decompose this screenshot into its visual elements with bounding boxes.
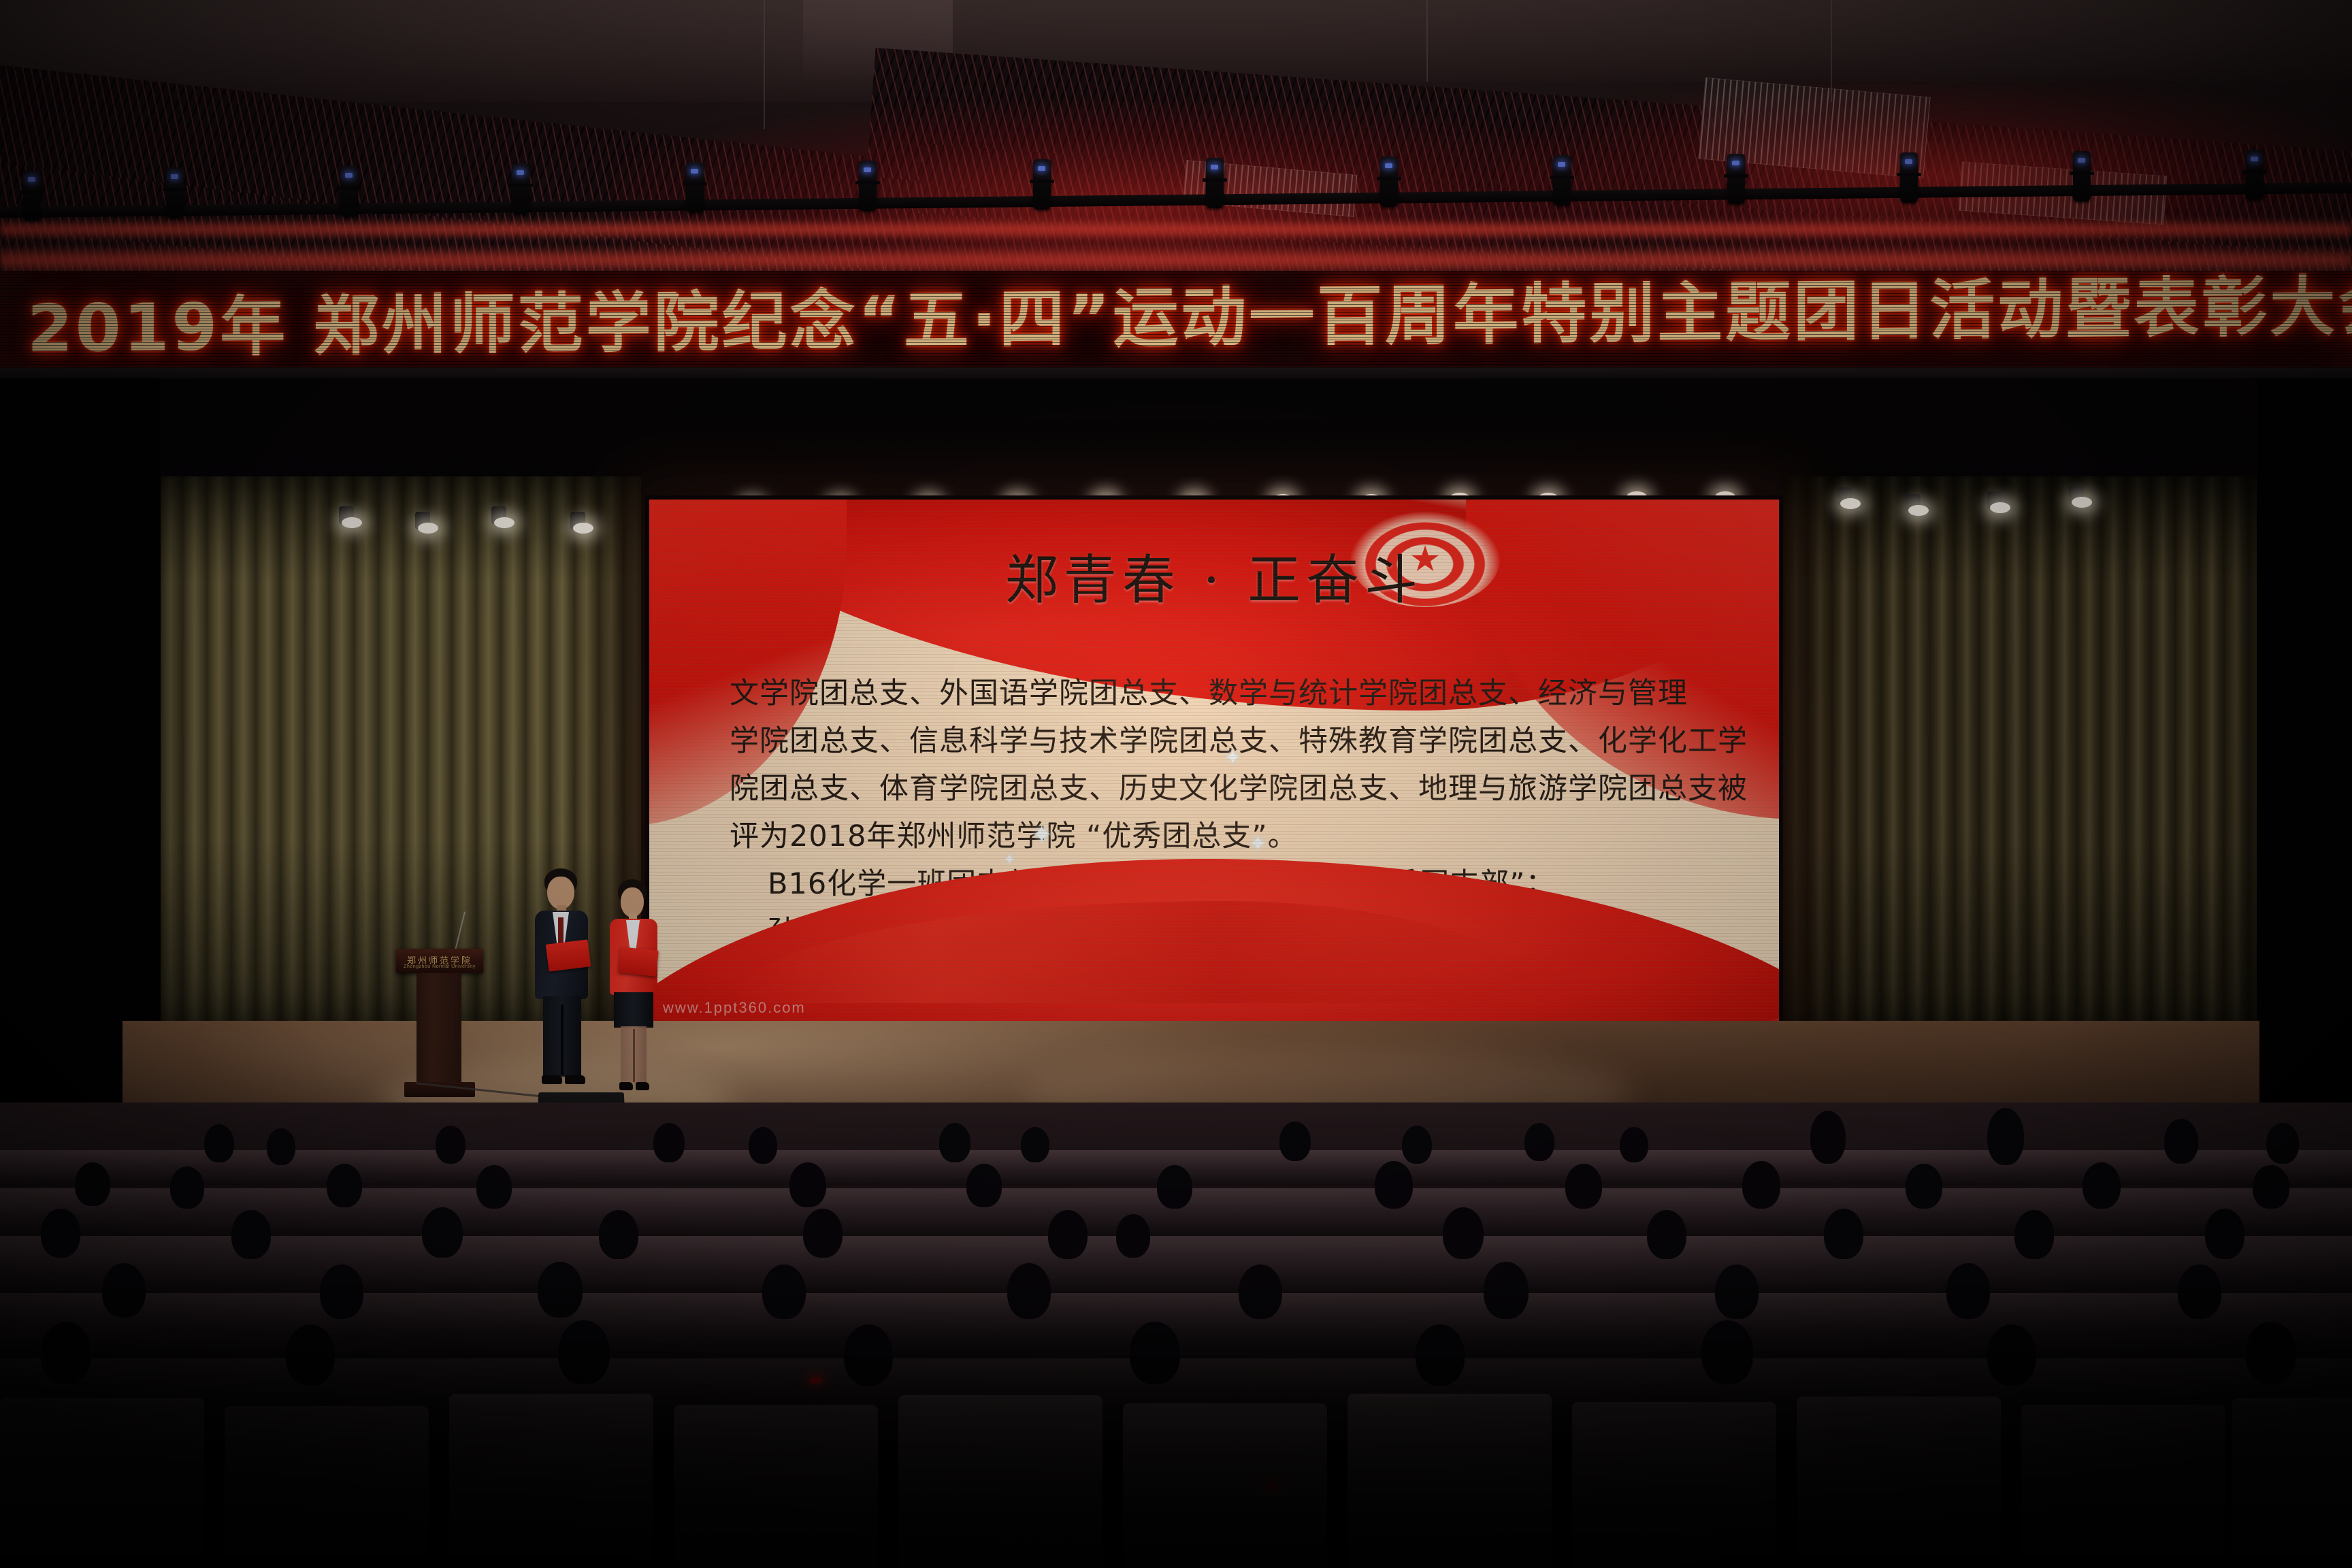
moving-head-light <box>1727 154 1745 204</box>
audience-head <box>1279 1122 1311 1161</box>
podium-column <box>416 973 461 1082</box>
audience-head <box>231 1210 271 1259</box>
audience-area <box>0 1102 2352 1568</box>
front-light <box>1908 505 1929 516</box>
seat-back <box>1123 1403 1327 1568</box>
front-light <box>342 517 362 528</box>
auditorium-scene: 2019年 郑州师范学院纪念“五·四”运动一百周年特别主题团日活动暨表彰大会 <box>0 0 2352 1568</box>
seat-back <box>225 1406 429 1568</box>
host-male <box>520 868 602 1093</box>
moving-head-light <box>859 161 877 211</box>
audience-head <box>41 1322 91 1384</box>
seat-back <box>2021 1405 2225 1568</box>
host-female <box>596 879 668 1096</box>
front-light <box>418 523 438 534</box>
audience-head <box>267 1128 295 1165</box>
moving-head-light <box>23 170 41 220</box>
slide-paragraph: 院团总支、体育学院团总支、历史文化学院团总支、地理与旅游学院团总支被 <box>730 765 1703 813</box>
audience-head <box>1007 1263 1051 1319</box>
slide-paragraph: 评为2018年郑州师范学院 “优秀团总支”。 <box>730 813 1703 860</box>
front-light <box>2072 497 2092 508</box>
slide-paragraph: 文学院团总支、外国语学院团总支、数学与统计学院团总支、经济与管理 <box>730 670 1703 717</box>
seat-back <box>1797 1396 2001 1568</box>
front-light <box>1840 498 1861 509</box>
audience-head <box>538 1262 583 1318</box>
audience-head <box>204 1124 234 1162</box>
front-light <box>573 523 593 534</box>
seat-back <box>2232 1398 2352 1568</box>
audience-head <box>1375 1161 1413 1209</box>
stage-curtain-right <box>1783 476 2259 1068</box>
led-banner: 2019年 郑州师范学院纪念“五·四”运动一百周年特别主题团日活动暨表彰大会 <box>0 271 2352 373</box>
audience-head <box>422 1207 463 1258</box>
red-script-folder <box>546 939 591 971</box>
leg-gap <box>633 1029 635 1082</box>
audience-head <box>2246 1322 2296 1384</box>
audience-head <box>558 1320 610 1384</box>
audience-head <box>476 1165 512 1209</box>
seat-back <box>1347 1394 1552 1568</box>
audience-head <box>1416 1324 1465 1386</box>
audience-head <box>1524 1123 1554 1161</box>
shoe-right <box>636 1082 649 1090</box>
moving-head-light <box>512 163 529 214</box>
seat-back <box>674 1405 878 1568</box>
audience-head <box>762 1264 806 1319</box>
audience-head <box>320 1264 363 1319</box>
audience-head <box>844 1324 893 1386</box>
audience-head <box>1239 1264 1282 1319</box>
slide-watermark: www.1ppt360.com <box>663 999 806 1017</box>
podium-name-en: Zhengzhou Normal University <box>396 964 483 969</box>
led-banner-text: 2019年 郑州师范学院纪念“五·四”运动一百周年特别主题团日活动暨表彰大会 <box>27 271 2325 370</box>
audience-head <box>599 1210 638 1259</box>
audience-head <box>1742 1161 1780 1209</box>
shoe-right <box>565 1075 585 1084</box>
audience-head <box>41 1209 80 1258</box>
audience-head <box>803 1209 843 1258</box>
audience-head <box>2205 1209 2244 1259</box>
podium: 郑州师范学院 Zhengzhou Normal University <box>396 949 483 1105</box>
audience-head <box>102 1263 146 1318</box>
red-script-folder <box>618 947 659 977</box>
moving-head-light <box>1033 159 1051 210</box>
audience-head <box>939 1123 970 1162</box>
slide-paragraph: 学院团总支、信息科学与技术学院团总支、特殊教育学院团总支、化学化工学 <box>730 717 1703 765</box>
moving-head-light <box>1206 158 1224 208</box>
audience-head <box>2082 1162 2121 1209</box>
front-light <box>494 517 514 528</box>
audience-head <box>1810 1111 1846 1164</box>
audience-head <box>1130 1322 1180 1384</box>
seat-back <box>898 1395 1102 1568</box>
necktie <box>558 917 563 945</box>
audience-head <box>749 1127 777 1164</box>
audience-head <box>75 1162 110 1206</box>
moving-head-light <box>166 167 184 218</box>
presentation-slide: ★ 郑青春 · 正奋斗 文学院团总支、外国语学院团总支、数学与统计学院团总支、经… <box>649 500 1779 1022</box>
projection-screen[interactable]: ★ 郑青春 · 正奋斗 文学院团总支、外国语学院团总支、数学与统计学院团总支、经… <box>645 495 1783 1026</box>
moving-head-light <box>340 166 358 216</box>
audience-head <box>2164 1119 2198 1164</box>
seat-back <box>1572 1402 1776 1568</box>
audience-head <box>170 1166 204 1209</box>
audience-head <box>1443 1207 1484 1259</box>
head <box>547 877 574 909</box>
moving-head-light <box>686 162 704 212</box>
audience-head <box>1715 1264 1759 1319</box>
audience-head <box>1565 1164 1602 1209</box>
indicator-light <box>810 1377 821 1384</box>
audience-head <box>1021 1127 1049 1162</box>
audience-head <box>1701 1320 1753 1384</box>
seat-back <box>449 1394 653 1568</box>
black-skirt <box>614 992 653 1028</box>
audience-head <box>286 1324 335 1386</box>
audience-head <box>2014 1210 2054 1259</box>
audience-head <box>1402 1126 1432 1164</box>
proscenium-right <box>2257 378 2352 1059</box>
audience-head <box>966 1164 1002 1207</box>
audience-head <box>2253 1165 2289 1209</box>
audience-head <box>1987 1324 2036 1386</box>
moving-head-light <box>1553 155 1571 206</box>
slide-title: 郑青春 · 正奋斗 <box>649 551 1779 610</box>
front-light <box>1990 502 2010 513</box>
shoe-left <box>619 1082 633 1090</box>
moving-head-light <box>1380 157 1398 207</box>
audience-head <box>1620 1127 1648 1162</box>
audience-head <box>327 1164 362 1207</box>
audience-head <box>653 1123 685 1162</box>
audience-head <box>1946 1263 1990 1319</box>
audience-head <box>789 1162 826 1207</box>
audience-head <box>1906 1164 1942 1209</box>
moving-head-light <box>1900 152 1918 203</box>
podium-nameplate: 郑州师范学院 Zhengzhou Normal University <box>396 949 483 973</box>
seat-back <box>0 1398 204 1568</box>
leg-gap <box>561 1004 563 1075</box>
shoe-left <box>542 1075 562 1084</box>
moving-head-light <box>2246 150 2264 200</box>
audience-head <box>1987 1108 2024 1165</box>
audience-head <box>1484 1262 1529 1319</box>
audience-head <box>436 1126 465 1164</box>
moving-head-light <box>2073 151 2091 201</box>
audience-head <box>2266 1123 2299 1164</box>
audience-head <box>1647 1210 1686 1259</box>
audience-head <box>1116 1214 1150 1258</box>
proscenium-left <box>0 378 161 1059</box>
audience-head <box>1048 1210 1088 1259</box>
audience-head <box>1824 1209 1863 1259</box>
audience-head <box>1157 1165 1192 1209</box>
audience-head <box>2178 1264 2221 1319</box>
ceiling <box>0 0 2352 272</box>
indicator-light <box>1266 1484 1277 1490</box>
